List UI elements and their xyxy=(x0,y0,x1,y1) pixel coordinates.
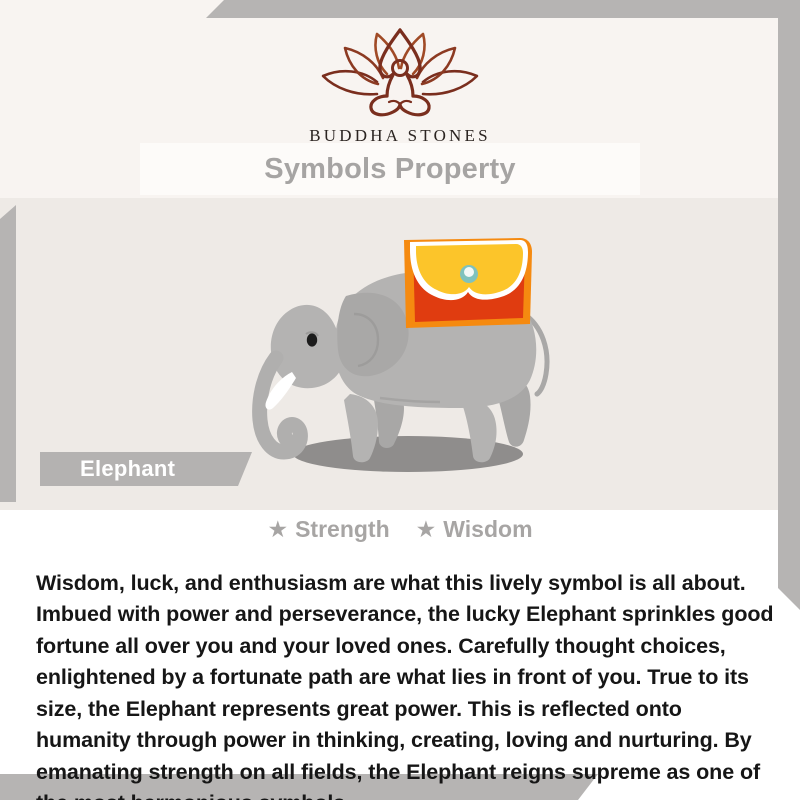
symbol-description: Wisdom, luck, and enthusiasm are what th… xyxy=(36,568,776,800)
attribute-strength: ★ Strength xyxy=(267,516,389,543)
saddle-gem-inner xyxy=(464,267,474,277)
elephant-head xyxy=(271,305,348,388)
star-icon: ★ xyxy=(416,518,437,541)
symbol-name-tag: Elephant xyxy=(40,452,252,486)
page-title: Symbols Property xyxy=(264,153,515,186)
attribute-list: ★ Strength ★ Wisdom xyxy=(0,516,800,543)
attribute-label: Wisdom xyxy=(443,516,532,543)
attribute-wisdom: ★ Wisdom xyxy=(416,516,533,543)
brand-header: BUDDHA STONES xyxy=(0,22,800,146)
decorative-bar-left xyxy=(0,205,16,502)
symbol-name: Elephant xyxy=(80,456,175,482)
lotus-meditation-icon xyxy=(315,22,485,122)
elephant-saddle xyxy=(404,238,532,328)
title-banner: Symbols Property xyxy=(140,143,640,195)
symbol-property-card: BUDDHA STONES Symbols Property xyxy=(0,0,800,800)
elephant-eye xyxy=(307,333,317,346)
walking-elephant-illustration xyxy=(228,222,578,492)
star-icon: ★ xyxy=(267,518,288,541)
attribute-label: Strength xyxy=(295,516,390,543)
